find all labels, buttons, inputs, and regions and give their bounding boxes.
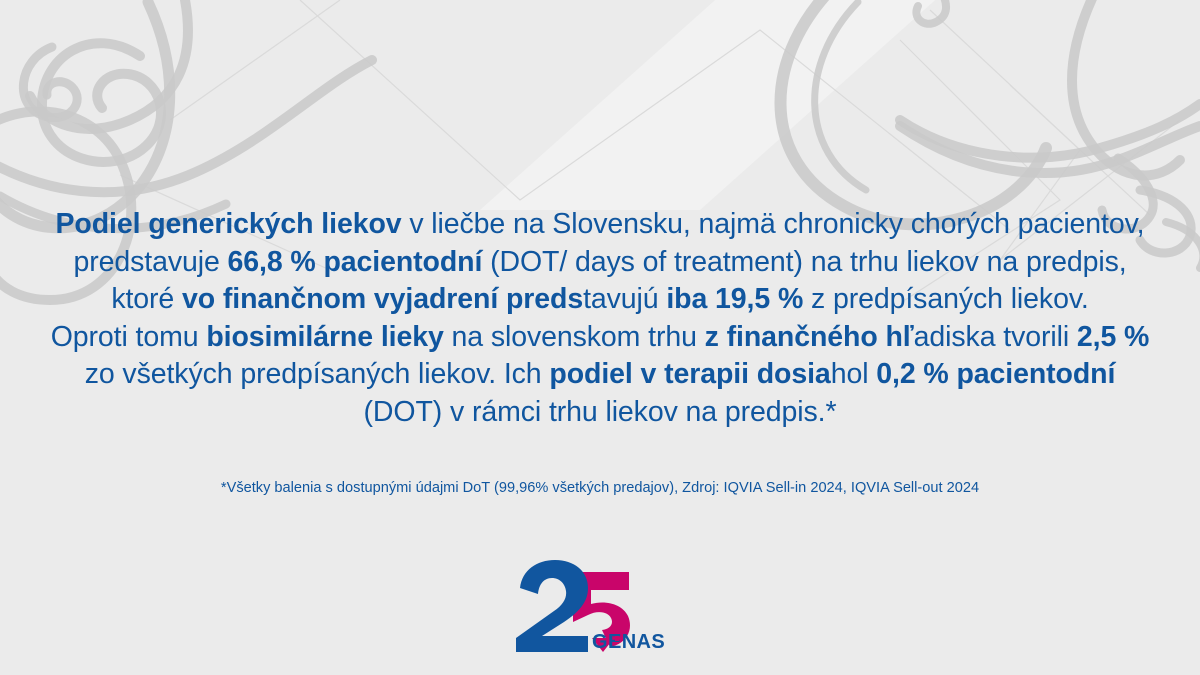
- headline-paragraph-1: Podiel generických liekov v liečbe na Sl…: [46, 206, 1154, 319]
- decor-spiral-left-1: [42, 43, 161, 162]
- decor-arc-center: [780, 0, 1046, 224]
- headline-seg-bold: 66,8 % pacientodní: [228, 246, 483, 278]
- headline-seg: (DOT) v rámci trhu liekov na predpis.*: [364, 396, 837, 428]
- headline-seg-bold: iba 19,5 %: [666, 283, 803, 315]
- decor-loop-right-3: [900, 126, 1200, 173]
- headline-seg-bold: z finančného hľ: [705, 321, 914, 353]
- headline-seg-bold: biosimilárne lieky: [206, 321, 443, 353]
- decor-thin-line-6: [1010, 85, 1150, 215]
- headline-seg-bold: 0,2 % pacientodní: [876, 358, 1115, 390]
- decor-pale-panel: [480, 0, 980, 210]
- decor-ribbon-sweep-1: [0, 60, 372, 192]
- headline-seg-bold: Podiel generických liekov: [56, 208, 402, 240]
- decor-curl-top-right: [916, 0, 946, 24]
- decor-stroke-left-3: [30, 0, 188, 129]
- headline-seg-bold: podiel v terapii dosia: [549, 358, 830, 390]
- decor-ribbon-upper-left: [0, 2, 170, 228]
- headline-seg: hol: [831, 358, 869, 390]
- decor-spiral-small-left: [23, 47, 77, 118]
- headline-seg: tavujú: [583, 283, 658, 315]
- genas-logo-svg: GENAS: [510, 560, 690, 652]
- headline-text: Podiel generických liekov v liečbe na Sl…: [0, 206, 1200, 431]
- headline-paragraph-2: Oproti tomu biosimilárne lieky na sloven…: [46, 319, 1154, 432]
- logo-wordmark-text: GENAS: [592, 631, 665, 652]
- logo-digit-two: [516, 560, 588, 652]
- headline-seg: Oproti tomu: [51, 321, 207, 353]
- decor-thin-line-3: [170, 0, 340, 120]
- headline-seg: na slovenskom trhu: [444, 321, 705, 353]
- decor-arc-center-inner: [815, 2, 866, 190]
- headline-seg: z predpísaných liekov.: [803, 283, 1088, 315]
- logo-wordmark-accent: [615, 636, 619, 641]
- genas-logo: GENAS: [510, 560, 690, 652]
- headline-seg-bold: vo finančnom vyjadrení preds: [182, 283, 583, 315]
- headline-seg: zo všetkých predpísaných liekov. Ich: [85, 358, 550, 390]
- decor-loop-right-1: [1072, 0, 1180, 175]
- logo-wordmark: GENAS: [592, 631, 665, 652]
- infographic-canvas: Podiel generických liekov v liečbe na Sl…: [0, 0, 1200, 675]
- headline-seg: tvorili: [995, 321, 1076, 353]
- headline-seg-bold: 2,5 %: [1077, 321, 1149, 353]
- footnote-source: *Všetky balenia s dostupnými údajmi DoT …: [0, 478, 1200, 498]
- headline-seg: adiska: [914, 321, 996, 353]
- decor-loop-right-2: [900, 104, 1200, 158]
- decor-thin-line-1: [300, 0, 1010, 230]
